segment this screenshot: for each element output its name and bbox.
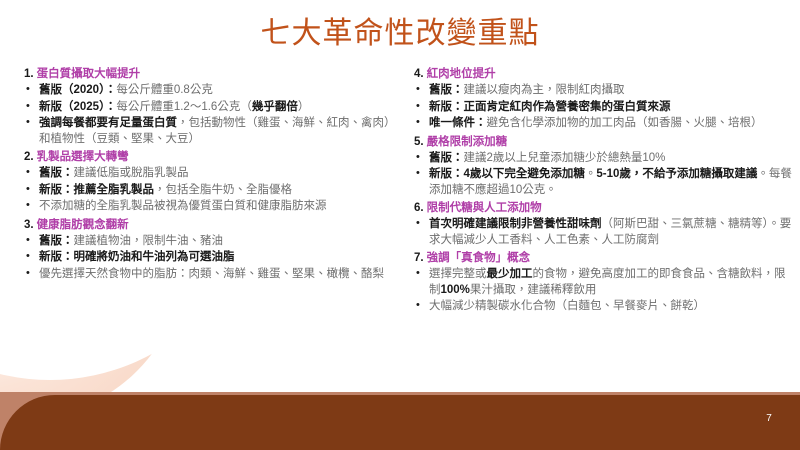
bullet-item: 新版：正面肯定紅肉作為營養密集的蛋白質來源 (414, 100, 794, 116)
bullet-text-run: 新版：推薦全脂乳製品 (39, 184, 154, 196)
bullet-item: 舊版：建議植物油，限制牛油、豬油 (24, 234, 390, 250)
section-heading: 2.乳製品選擇大轉彎 (24, 149, 390, 165)
bullet-text-run: 果汁攝取，建議稀釋飲用 (470, 284, 597, 296)
bullet-list: 首次明確建議限制非營養性甜味劑（阿斯巴甜、三氯蔗糖、糖精等）。要求大幅減少人工香… (414, 217, 794, 248)
content-section: 3.健康脂肪觀念翻新舊版：建議植物油，限制牛油、豬油新版：明確將奶油和牛油列為可… (24, 217, 390, 283)
bullet-item: 新版：明確將奶油和牛油列為可選油脂 (24, 250, 390, 266)
bullet-item: 舊版（2020）：每公斤體重0.8公克 (24, 83, 390, 99)
section-number: 2. (24, 149, 34, 165)
section-title: 嚴格限制添加糖 (427, 134, 508, 150)
bullet-item: 新版：4歲以下完全避免添加糖。5-10歲，不給予添加糖攝取建議。每餐添加糖不應超… (414, 167, 794, 198)
bullet-item: 舊版：建議2歲以上兒童添加糖少於總熱量10% (414, 151, 794, 167)
bullet-item: 唯一條件：避免含化學添加物的加工肉品（如香腸、火腿、培根） (414, 116, 794, 132)
bullet-item: 舊版：建議以瘦肉為主，限制紅肉攝取 (414, 83, 794, 99)
section-heading: 5.嚴格限制添加糖 (414, 134, 794, 150)
section-number: 5. (414, 134, 424, 150)
bullet-text-run: 強調每餐都要有足量蛋白質 (39, 117, 177, 129)
bullet-item: 優先選擇天然食物中的脂肪：肉類、海鮮、雞蛋、堅果、橄欖、酪梨 (24, 267, 390, 283)
presentation-slide: 七大革命性改變重點 1.蛋白質攝取大幅提升舊版（2020）：每公斤體重0.8公克… (0, 0, 800, 450)
section-heading: 3.健康脂肪觀念翻新 (24, 217, 390, 233)
content-section: 7.強調「真食物」概念選擇完整或最少加工的食物，避免高度加工的即食食品、含糖飲料… (414, 250, 794, 315)
section-number: 4. (414, 66, 424, 82)
bullet-text-run: 建議植物油，限制牛油、豬油 (74, 235, 224, 247)
bullet-item: 強調每餐都要有足量蛋白質，包括動物性（雞蛋、海鮮、紅肉、禽肉）和植物性（豆類、堅… (24, 116, 390, 147)
section-title: 蛋白質攝取大幅提升 (37, 66, 141, 82)
bullet-text-run: 4歲以下完全避免添加糖 (464, 168, 585, 180)
bullet-list: 舊版：建議植物油，限制牛油、豬油新版：明確將奶油和牛油列為可選油脂優先選擇天然食… (24, 234, 390, 283)
bullet-item: 舊版：建議低脂或脫脂乳製品 (24, 166, 390, 182)
content-section: 6.限制代糖與人工添加物首次明確建議限制非營養性甜味劑（阿斯巴甜、三氯蔗糖、糖精… (414, 200, 794, 248)
section-heading: 6.限制代糖與人工添加物 (414, 200, 794, 216)
bullet-list: 舊版：建議低脂或脫脂乳製品新版：推薦全脂乳製品，包括全脂牛奶、全脂優格不添加糖的… (24, 166, 390, 215)
section-number: 3. (24, 217, 34, 233)
section-title: 強調「真食物」概念 (427, 250, 531, 266)
bullet-text-run: 舊版： (429, 152, 464, 164)
bullet-text-run: 建議2歲以上兒童添加糖少於總熱量10% (464, 152, 666, 164)
column-left: 1.蛋白質攝取大幅提升舊版（2020）：每公斤體重0.8公克新版（2025）：每… (0, 64, 400, 394)
section-title: 健康脂肪觀念翻新 (37, 217, 129, 233)
bullet-text-run: 建議以瘦肉為主，限制紅肉攝取 (464, 84, 625, 96)
bullet-text-run: 新版： (429, 168, 464, 180)
bullet-text-run: 選擇完整或 (429, 268, 487, 280)
section-number: 1. (24, 66, 34, 82)
bullet-list: 舊版：建議以瘦肉為主，限制紅肉攝取新版：正面肯定紅肉作為營養密集的蛋白質來源唯一… (414, 83, 794, 132)
content-columns: 1.蛋白質攝取大幅提升舊版（2020）：每公斤體重0.8公克新版（2025）：每… (0, 64, 800, 394)
bottom-accent-bar (0, 395, 800, 450)
section-heading: 1.蛋白質攝取大幅提升 (24, 66, 390, 82)
bullet-list: 選擇完整或最少加工的食物，避免高度加工的即食食品、含糖飲料，限制100%果汁攝取… (414, 267, 794, 315)
content-section: 5.嚴格限制添加糖舊版：建議2歲以上兒童添加糖少於總熱量10%新版：4歲以下完全… (414, 134, 794, 199)
section-heading: 7.強調「真食物」概念 (414, 250, 794, 266)
section-title: 乳製品選擇大轉彎 (37, 149, 129, 165)
section-number: 7. (414, 250, 424, 266)
bullet-text-run: 。 (585, 168, 597, 180)
bullet-text-run: 新版（2025）： (39, 101, 116, 113)
content-section: 4.紅肉地位提升舊版：建議以瘦肉為主，限制紅肉攝取新版：正面肯定紅肉作為營養密集… (414, 66, 794, 132)
bullet-text-run: 首次明確建議限制非營養性甜味劑 (429, 218, 602, 230)
bullet-text-run: 每公斤體重0.8公克 (116, 84, 213, 96)
section-title: 限制代糖與人工添加物 (427, 200, 542, 216)
bullet-text-run: 建議低脂或脫脂乳製品 (74, 167, 189, 179)
bullet-item: 新版（2025）：每公斤體重1.2～1.6公克（幾乎翻倍） (24, 100, 390, 116)
bullet-text-run: 最少加工 (487, 268, 533, 280)
bullet-text-run: 舊版（2020）： (39, 84, 116, 96)
bullet-item: 新版：推薦全脂乳製品，包括全脂牛奶、全脂優格 (24, 183, 390, 199)
bullet-text-run: 唯一條件： (429, 117, 487, 129)
page-title: 七大革命性改變重點 (0, 14, 800, 54)
bullet-text-run: 新版：正面肯定紅肉作為營養密集的蛋白質來源 (429, 101, 671, 113)
bullet-item: 首次明確建議限制非營養性甜味劑（阿斯巴甜、三氯蔗糖、糖精等）。要求大幅減少人工香… (414, 217, 794, 248)
bullet-text-run: 舊版： (39, 167, 74, 179)
bullet-text-run: 幾乎翻倍 (252, 101, 298, 113)
bullet-text-run: 每公斤體重1.2～1.6公克（ (116, 101, 251, 113)
section-heading: 4.紅肉地位提升 (414, 66, 794, 82)
bullet-text-run: ，包括全脂牛奶、全脂優格 (154, 184, 292, 196)
bullet-text-run: 新版：明確將奶油和牛油列為可選油脂 (39, 251, 235, 263)
section-title: 紅肉地位提升 (427, 66, 496, 82)
content-section: 1.蛋白質攝取大幅提升舊版（2020）：每公斤體重0.8公克新版（2025）：每… (24, 66, 390, 147)
bullet-list: 舊版（2020）：每公斤體重0.8公克新版（2025）：每公斤體重1.2～1.6… (24, 83, 390, 147)
bullet-text-run: 舊版： (429, 84, 464, 96)
bullet-text-run: 避免含化學添加物的加工肉品（如香腸、火腿、培根） (487, 117, 763, 129)
bullet-text-run: 大幅減少精製碳水化合物（白麵包、早餐麥片、餅乾） (429, 300, 705, 312)
bullet-text-run: 100% (441, 284, 470, 296)
bullet-item: 大幅減少精製碳水化合物（白麵包、早餐麥片、餅乾） (414, 299, 794, 315)
bullet-text-run: 優先選擇天然食物中的脂肪：肉類、海鮮、雞蛋、堅果、橄欖、酪梨 (39, 268, 384, 280)
column-right: 4.紅肉地位提升舊版：建議以瘦肉為主，限制紅肉攝取新版：正面肯定紅肉作為營養密集… (400, 64, 800, 394)
section-number: 6. (414, 200, 424, 216)
bullet-item: 不添加糖的全脂乳製品被視為優質蛋白質和健康脂肪來源 (24, 199, 390, 215)
bullet-item: 選擇完整或最少加工的食物，避免高度加工的即食食品、含糖飲料，限制100%果汁攝取… (414, 267, 794, 298)
bullet-list: 舊版：建議2歲以上兒童添加糖少於總熱量10%新版：4歲以下完全避免添加糖。5-1… (414, 151, 794, 199)
bullet-text-run: ） (298, 101, 310, 113)
page-number: 7 (766, 413, 772, 424)
bullet-text-run: 不添加糖的全脂乳製品被視為優質蛋白質和健康脂肪來源 (39, 200, 327, 212)
content-section: 2.乳製品選擇大轉彎舊版：建議低脂或脫脂乳製品新版：推薦全脂乳製品，包括全脂牛奶… (24, 149, 390, 215)
bullet-text-run: 5-10歲，不給予添加糖攝取建議 (596, 168, 757, 180)
bullet-text-run: 舊版： (39, 235, 74, 247)
